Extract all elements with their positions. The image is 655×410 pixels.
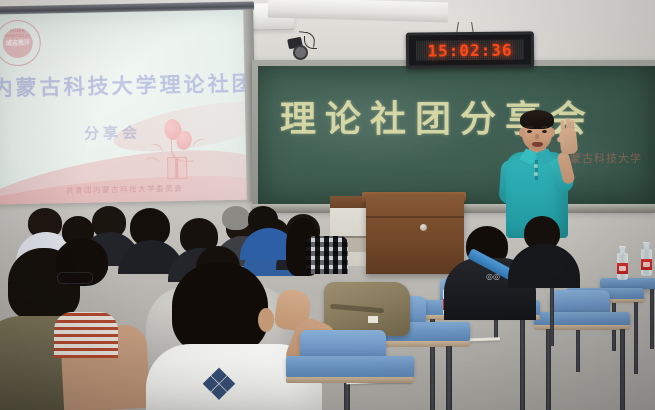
blackboard: 理论社团分享会 内蒙古科技大学 bbox=[258, 66, 655, 204]
backpack-tag bbox=[368, 316, 378, 323]
desk-leg bbox=[446, 346, 452, 410]
eyeglasses-icon bbox=[57, 272, 93, 284]
desk-leg bbox=[520, 319, 525, 410]
desk-edge bbox=[286, 377, 414, 383]
desk-leg bbox=[634, 302, 638, 374]
podium-knob bbox=[420, 224, 427, 231]
clock-time-text: 15:02:36 bbox=[427, 40, 512, 60]
tshirt-graphic-print: ❖ bbox=[176, 364, 262, 408]
podium bbox=[366, 194, 464, 274]
gift-box-icon bbox=[167, 157, 187, 179]
ear-icon bbox=[258, 308, 274, 332]
classroom-photo: INNER MONGOLIA 成吉思汗 内蒙古科技大学理论社团 分享会 共青团内… bbox=[0, 0, 655, 410]
wall-camera-icon bbox=[286, 34, 312, 56]
desk bbox=[534, 312, 630, 326]
podium-seam bbox=[366, 216, 464, 218]
water-bottle bbox=[609, 252, 620, 286]
projection-screen: INNER MONGOLIA 成吉思汗 内蒙古科技大学理论社团 分享会 共青团内… bbox=[0, 1, 258, 211]
plaid-shirt bbox=[306, 236, 348, 274]
desk bbox=[286, 356, 414, 378]
desk-leg bbox=[650, 289, 654, 349]
desk-leg bbox=[620, 329, 625, 410]
led-clock: 15:02:36 bbox=[406, 31, 534, 68]
university-emblem-icon: INNER MONGOLIA 成吉思汗 bbox=[0, 20, 41, 67]
slide-title: 内蒙古科技大学理论社团 bbox=[0, 67, 254, 102]
led-panel: 15:02:36 bbox=[416, 39, 524, 60]
emblem-arc-text: INNER MONGOLIA bbox=[1, 28, 33, 40]
shirt-logo: ◎◎ bbox=[486, 272, 508, 283]
audience-head-grey bbox=[222, 206, 250, 230]
chair-back bbox=[550, 290, 610, 314]
desk-leg bbox=[550, 286, 554, 346]
striped-shirt bbox=[54, 312, 118, 358]
audience-head-foreground bbox=[172, 262, 268, 354]
water-bottle bbox=[641, 242, 652, 276]
screen-surface: INNER MONGOLIA 成吉思汗 内蒙古科技大学理论社团 分享会 共青团内… bbox=[0, 10, 256, 205]
